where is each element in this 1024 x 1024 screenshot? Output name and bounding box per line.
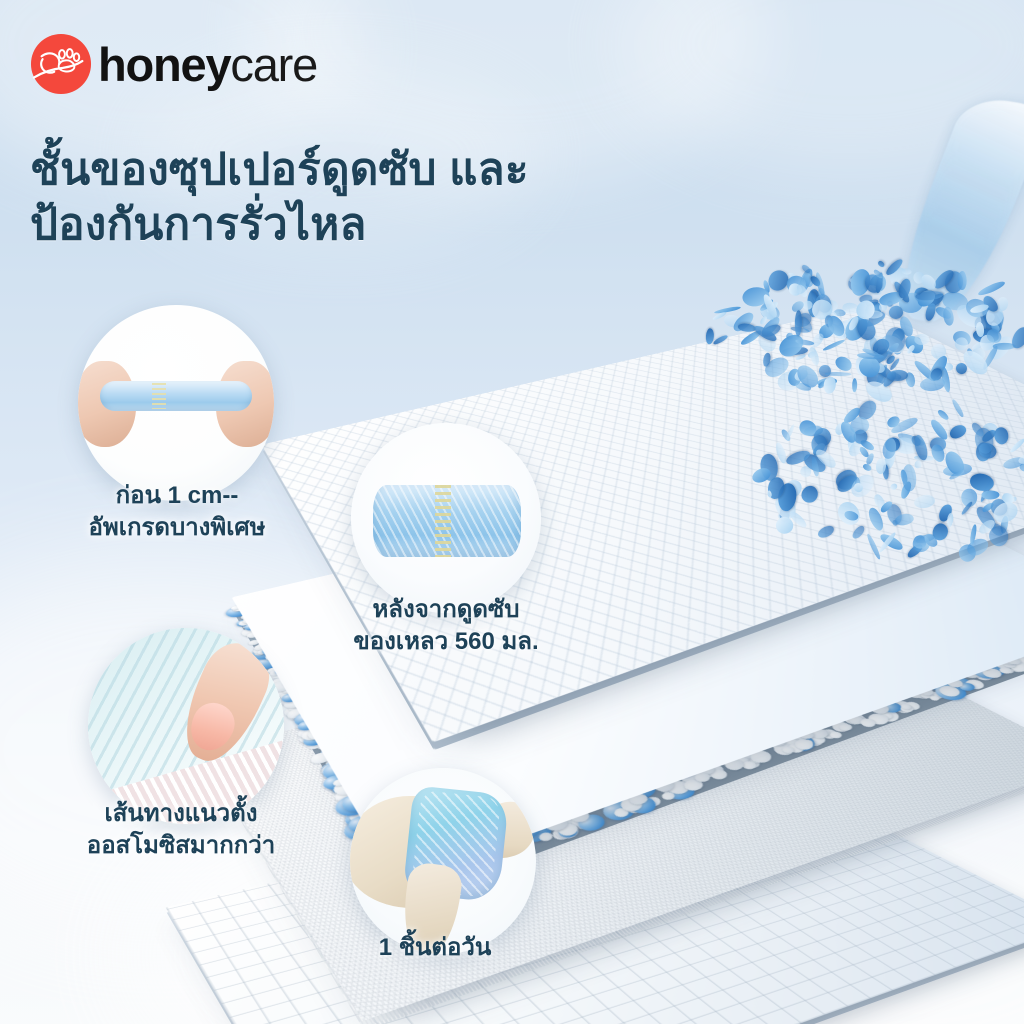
liquid-droplet (795, 310, 802, 336)
liquid-droplet (977, 279, 1006, 297)
liquid-droplet (947, 512, 954, 527)
finger-pressing-pad-photo-icon (88, 628, 284, 824)
feature-caption-vertical-osmosis: เส้นทางแนวตั้ง ออสโมซิสมากกว่า (38, 798, 324, 862)
swollen-saturated-pad-photo-icon (351, 423, 541, 613)
liquid-droplet (914, 334, 929, 345)
caption-line-1: หลังจากดูดซับ (300, 594, 592, 626)
caption-line-1: ก่อน 1 cm-- (36, 480, 318, 512)
liquid-droplet (862, 462, 873, 472)
infographic-canvas: honey care ชั้นของซุปเปอร์ดูดซับ และ ป้อ… (0, 0, 1024, 1024)
liquid-droplet (948, 423, 968, 441)
hands-holding-thin-pad-photo-icon (78, 305, 274, 501)
liquid-droplet (914, 459, 922, 468)
feature-caption-absorbed-560ml: หลังจากดูดซับ ของเหลว 560 มล. (300, 594, 592, 658)
liquid-droplet (1009, 438, 1024, 455)
liquid-droplet (886, 369, 907, 381)
feature-caption-one-per-day: 1 ชิ้นต่อวัน (322, 932, 548, 964)
liquid-droplet (951, 398, 965, 418)
caption-line-1: เส้นทางแนวตั้ง (38, 798, 324, 830)
swollen-pad (373, 485, 521, 557)
feature-image-one-per-day (350, 768, 536, 954)
liquid-splash-top (706, 262, 1006, 382)
liquid-droplet (993, 426, 1010, 445)
liquid-droplet (712, 334, 728, 346)
honeycare-paw-hand-logo-icon (30, 33, 92, 95)
caption-line-2: ของเหลว 560 มล. (300, 626, 592, 658)
thin-pad (100, 381, 252, 411)
brand-name-bold: honey (98, 41, 230, 88)
liquid-droplet (877, 260, 885, 268)
liquid-droplet (822, 338, 845, 352)
liquid-droplet (958, 271, 967, 290)
caption-line-2: ออสโมซิสมากกว่า (38, 830, 324, 862)
liquid-droplet (816, 523, 836, 540)
headline-line-2: ป้องกันการรั่วไหล (30, 197, 670, 252)
liquid-droplet (807, 346, 821, 366)
brand-name-light: care (230, 41, 317, 88)
caption-line-1: 1 ชิ้นต่อวัน (322, 932, 548, 964)
liquid-droplet (913, 493, 936, 510)
brand-logo: honey care (30, 33, 317, 95)
puppy-wearing-diaper-photo-icon (350, 768, 536, 954)
page-title: ชั้นของซุปเปอร์ดูดซับ และ ป้องกันการรั่ว… (30, 142, 670, 253)
caption-line-2: อัพเกรดบางพิเศษ (36, 512, 318, 544)
feature-image-vertical-osmosis (88, 628, 284, 824)
liquid-droplet (889, 482, 898, 490)
feature-image-absorbed-560ml (351, 423, 541, 613)
liquid-droplet (850, 524, 866, 540)
liquid-droplet (936, 408, 950, 421)
liquid-droplet (959, 347, 992, 379)
liquid-droplet (902, 464, 917, 492)
headline-line-1: ชั้นของซุปเปอร์ดูดซับ และ (30, 142, 670, 197)
brand-wordmark: honey care (98, 41, 317, 88)
liquid-splash-through (756, 400, 1024, 550)
feature-image-ultra-thin (78, 305, 274, 501)
feature-caption-ultra-thin: ก่อน 1 cm-- อัพเกรดบางพิเศษ (36, 480, 318, 544)
